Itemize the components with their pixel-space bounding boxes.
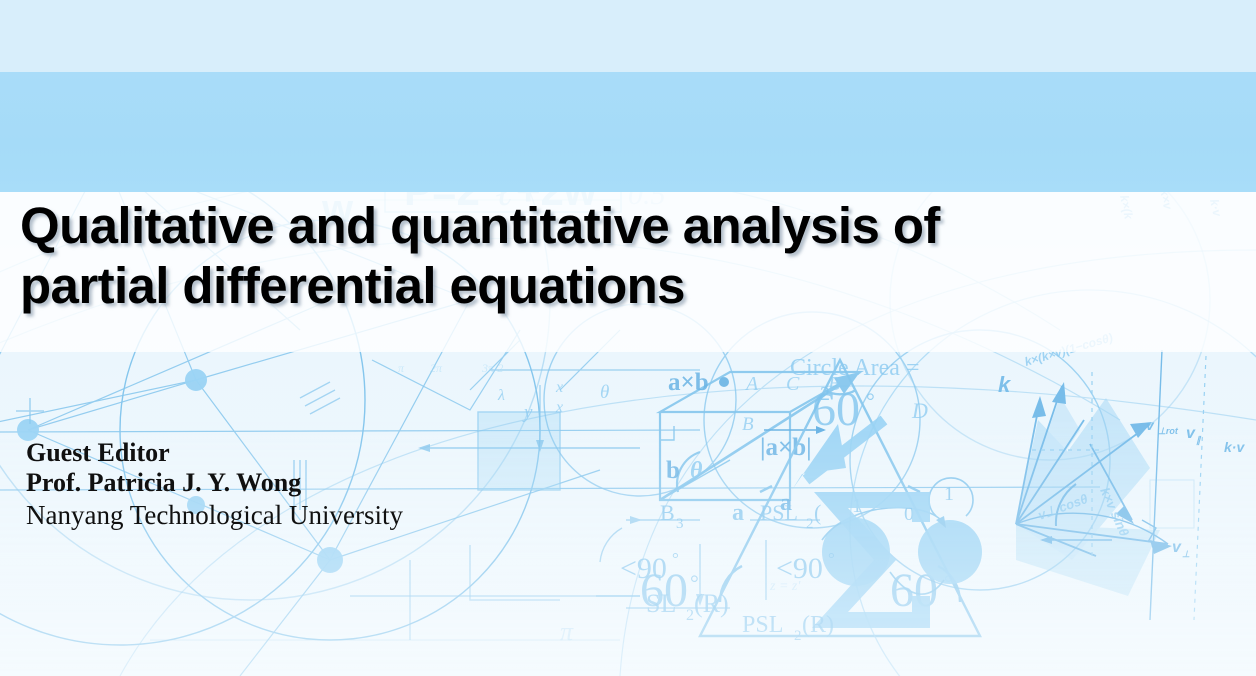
page-title: Qualitative and quantitative analysis of… (20, 196, 1235, 315)
svg-text:3π/2: 3π/2 (481, 361, 503, 375)
svg-text:y: y (522, 402, 533, 423)
svg-text:x: x (555, 399, 563, 416)
page-title-line-1: Qualitative and quantitative analysis of (20, 196, 1235, 256)
svg-text:λ: λ (497, 387, 505, 404)
header-strip (0, 0, 1256, 72)
page-title-line-2: partial differential equations (20, 256, 1235, 316)
svg-text:B: B (828, 373, 840, 395)
svg-text:D: D (911, 398, 928, 423)
svg-text:θ: θ (600, 382, 609, 403)
svg-text:2π: 2π (430, 361, 443, 375)
guest-editor-affiliation: Nanyang Technological University (26, 498, 403, 532)
svg-text:Circle Area =: Circle Area = (790, 355, 919, 381)
svg-text:°: ° (866, 388, 875, 413)
guest-editor-name: Prof. Patricia J. Y. Wong (26, 468, 403, 498)
svg-text:C: C (786, 373, 800, 395)
svg-text:k: k (998, 372, 1012, 397)
svg-text:π: π (398, 361, 405, 375)
special-issue-banner: P=2 ℓ +2w w 0.5 ℓ v = v ∥ + v ⊥ v ∥ = k(… (0, 0, 1256, 676)
svg-text:A: A (744, 373, 759, 395)
svg-text:a×b: a×b (668, 369, 709, 396)
guest-editor-role: Guest Editor (26, 438, 403, 468)
svg-text:x: x (555, 379, 563, 396)
guest-editor-block: Guest Editor Prof. Patricia J. Y. Wong N… (26, 438, 403, 532)
blue-accent-band (0, 72, 1256, 192)
